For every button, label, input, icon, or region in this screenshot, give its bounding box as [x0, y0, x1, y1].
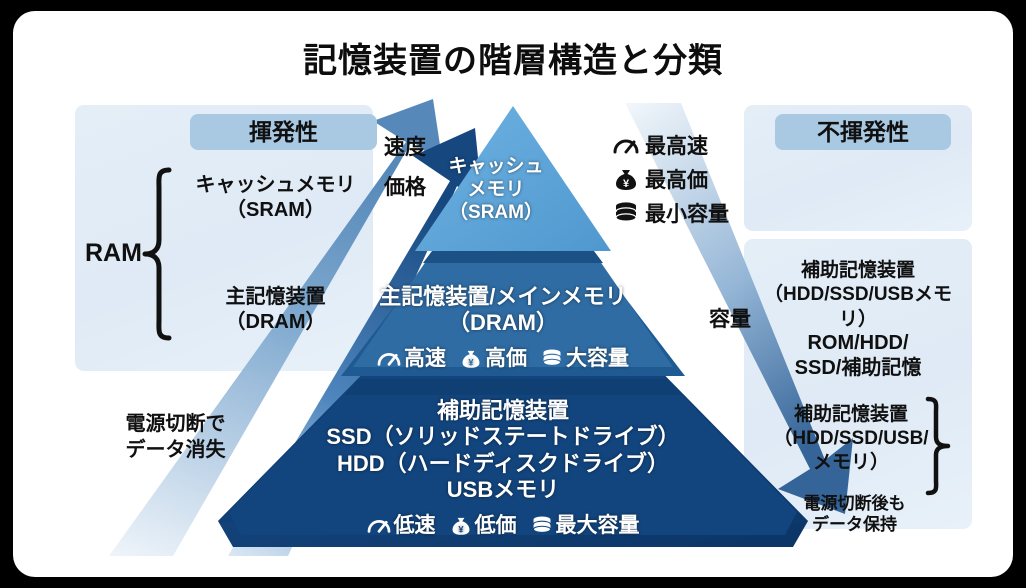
database-icon: [613, 201, 639, 225]
nonvolatile-brace-icon: [925, 396, 955, 496]
money-bag-icon: ¥: [450, 515, 472, 536]
tier-1-label: キャッシュ メモリ （SRAM）: [411, 156, 581, 224]
nonvolatile-rom-line: ROM/HDD/ SSD/補助記憶: [752, 331, 964, 381]
ram-group-label: RAM: [85, 239, 142, 268]
tier-3-metric-capacity: 最大容量: [531, 513, 640, 538]
left-item-cache-line2: （SRAM）: [163, 198, 388, 223]
speedometer-icon: [367, 515, 391, 535]
tier-2-metric-capacity: 大容量: [541, 346, 629, 371]
left-item-cache: キャッシュメモリ （SRAM）: [163, 173, 388, 223]
legend-row-speed: 最高速: [613, 128, 763, 162]
tier-3-metric-speed-label: 低速: [394, 513, 436, 538]
money-bag-icon: ¥: [460, 348, 482, 369]
tier-2-lines: 主記憶装置/メインメモリ （DRAM）: [343, 284, 663, 337]
tier-2-metrics: 高速 ¥ 高価 大容量: [343, 346, 663, 371]
volatile-note: 電源切断で データ消失: [83, 411, 268, 463]
svg-text:¥: ¥: [458, 524, 464, 534]
svg-text:¥: ¥: [623, 178, 630, 190]
tier-3-metric-price: ¥ 低価: [450, 513, 517, 538]
tier-2-metric-capacity-label: 大容量: [566, 346, 629, 371]
nonvolatile-aux-storage-1: 補助記憶装置 （HDD/SSD/USBメモリ）: [752, 259, 964, 332]
tier-2-metric-speed: 高速: [377, 346, 446, 371]
tier-3-metric-speed: 低速: [367, 513, 436, 538]
legend-label-speed: 最高速: [645, 130, 708, 160]
speedometer-icon: [613, 134, 639, 156]
tier-3-metrics: 低速 ¥ 低価 最大容量: [293, 513, 713, 538]
tier-2-label: 主記憶装置/メインメモリ （DRAM） 高速 ¥ 高価: [343, 284, 663, 371]
legend-row-price: ¥ 最高価: [613, 162, 763, 196]
money-bag-icon: ¥: [613, 167, 639, 191]
metric-legend: 最高速 ¥ 最高価 最小容量: [613, 128, 763, 230]
database-icon: [531, 515, 553, 536]
database-icon: [541, 348, 563, 369]
axis-label-capacity: 容量: [709, 303, 751, 333]
tier-2-metric-speed-label: 高速: [404, 346, 446, 371]
diagram-card: 記憶装置の階層構造と分類: [13, 11, 1013, 577]
tier-2-metric-price: ¥ 高価: [460, 346, 527, 371]
svg-text:¥: ¥: [468, 357, 474, 367]
legend-label-capacity: 最小容量: [645, 198, 729, 228]
legend-label-price: 最高価: [645, 164, 708, 194]
tier-2-metric-price-label: 高価: [485, 346, 527, 371]
tier-3-lines: 補助記憶装置 SSD（ソリッドステートドライブ） HDD（ハードディスクドライブ…: [293, 398, 713, 504]
volatile-chip: 揮発性: [190, 114, 377, 150]
tier-3-label: 補助記憶装置 SSD（ソリッドステートドライブ） HDD（ハードディスクドライブ…: [293, 398, 713, 538]
tier-3-metric-price-label: 低価: [475, 513, 517, 538]
nonvolatile-chip: 不揮発性: [775, 114, 951, 150]
legend-row-capacity: 最小容量: [613, 196, 763, 230]
tier-3-metric-capacity-label: 最大容量: [556, 513, 640, 538]
nonvolatile-aux-storage-2: 補助記憶装置 （HDD/SSD/USB/ メモリ）: [752, 403, 950, 474]
left-item-cache-line1: キャッシュメモリ: [163, 173, 388, 198]
nonvolatile-note: 電源切断後も データ保持: [752, 493, 957, 536]
speedometer-icon: [377, 348, 401, 368]
